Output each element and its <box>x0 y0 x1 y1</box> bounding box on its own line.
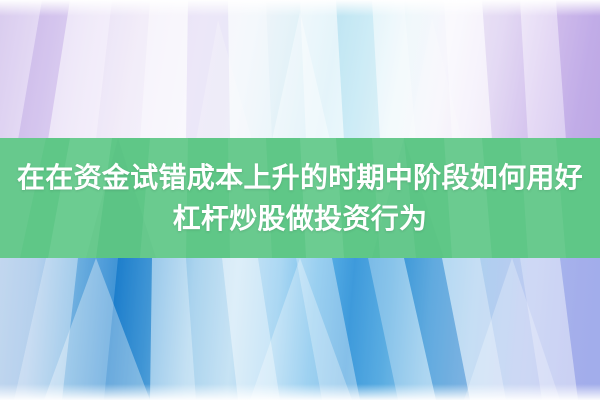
title-line-2: 炒股做投资行为 <box>229 203 427 234</box>
top-facet-pattern <box>0 0 600 140</box>
top-gradient-panel <box>0 0 600 140</box>
bottom-gradient-panel <box>0 258 600 400</box>
page-title: 在在资金试错成本上升的时期中阶段如何用好杠杆炒股做投资行为 <box>0 157 600 239</box>
promo-banner: 在在资金试错成本上升的时期中阶段如何用好杠杆炒股做投资行为 <box>0 0 600 400</box>
title-band: 在在资金试错成本上升的时期中阶段如何用好杠杆炒股做投资行为 <box>0 138 600 258</box>
bottom-facet-pattern <box>0 258 600 400</box>
